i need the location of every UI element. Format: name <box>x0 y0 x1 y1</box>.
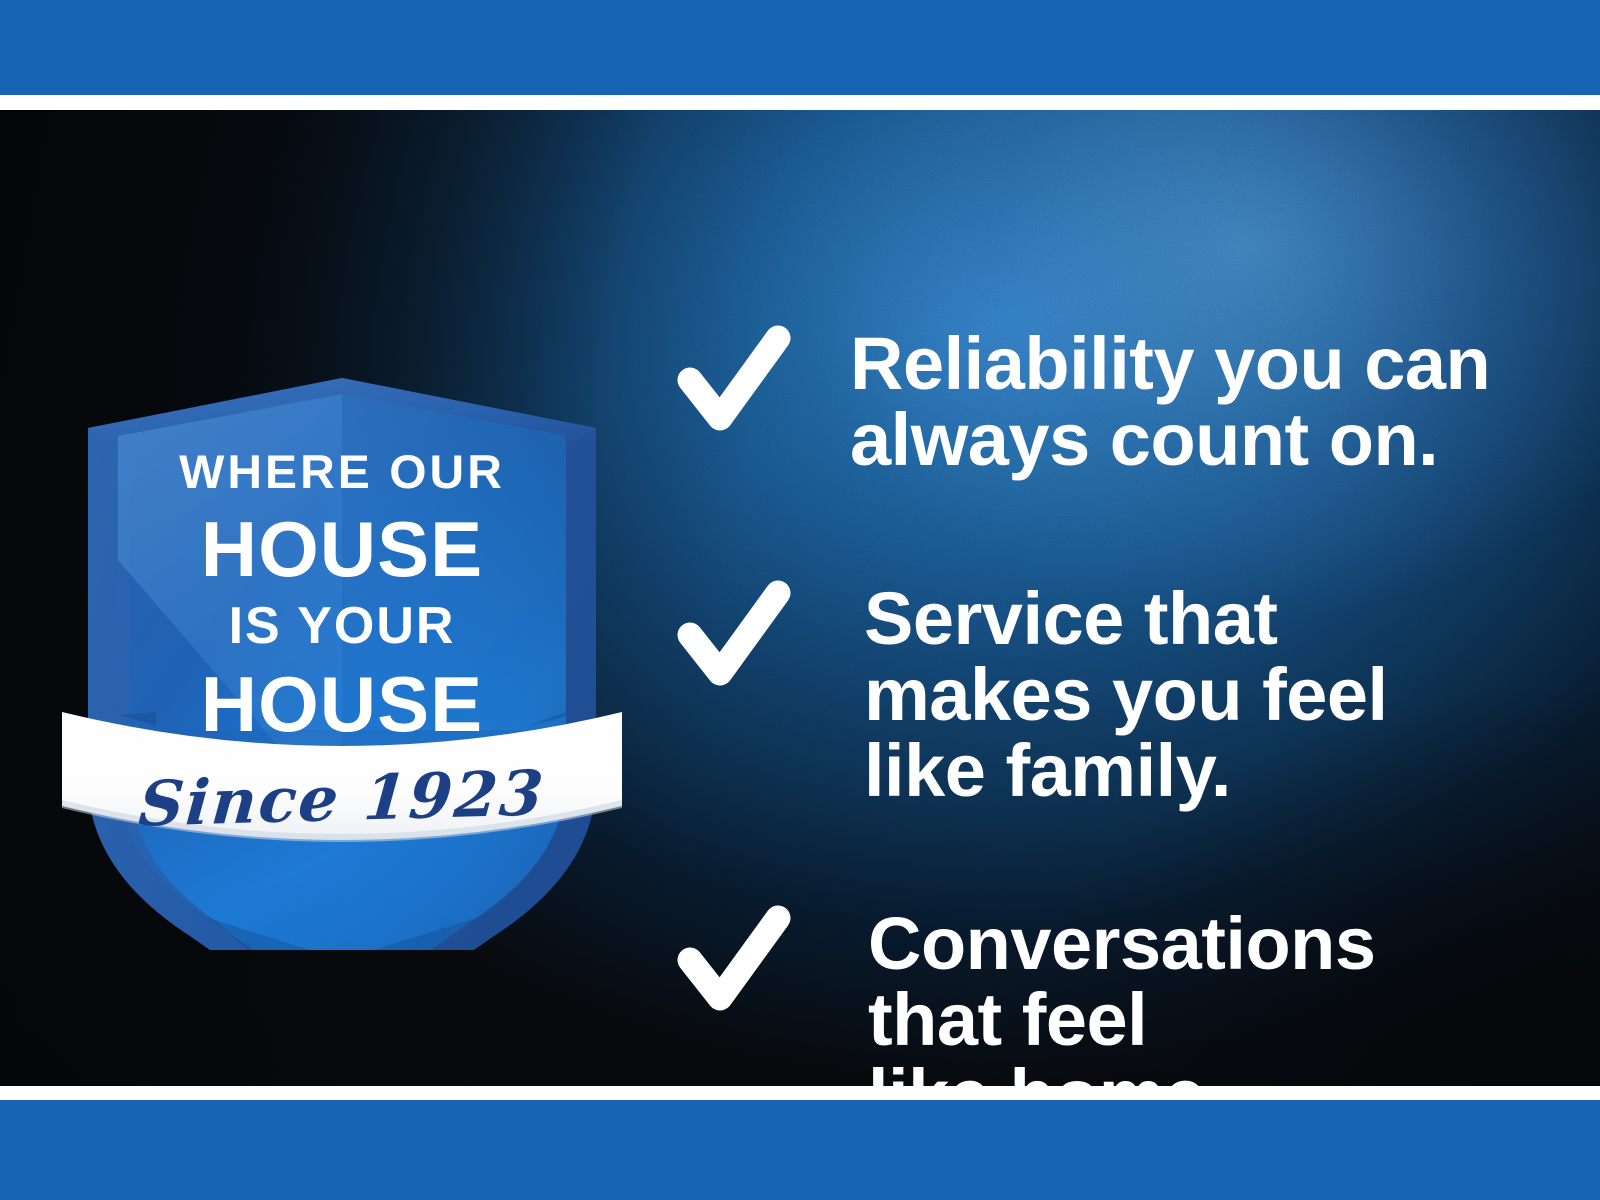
top-brand-bar <box>0 0 1600 95</box>
list-item-label: Conversations that feel like home. <box>868 900 1376 1086</box>
check-icon <box>660 900 792 1018</box>
check-icon <box>660 320 792 438</box>
badge-line-4: House <box>52 665 632 743</box>
benefits-list: Reliability you can always count on. Ser… <box>660 220 1540 1086</box>
badge-line-2: House <box>52 510 632 588</box>
promo-graphic: Where Our House Is Your House Since 1923… <box>0 0 1600 1200</box>
list-item: Service that makes you feel like family. <box>660 575 1540 810</box>
badge-line-1: Where Our <box>46 448 638 495</box>
bottom-brand-bar <box>0 1100 1600 1200</box>
list-item: Reliability you can always count on. <box>660 320 1540 478</box>
top-white-divider <box>0 95 1600 110</box>
badge-line-3: Is Your <box>52 600 632 652</box>
list-item-label: Reliability you can always count on. <box>850 320 1490 478</box>
check-icon <box>660 575 792 693</box>
list-item-label: Service that makes you feel like family. <box>864 575 1388 810</box>
bottom-white-divider <box>0 1086 1600 1100</box>
list-item: Conversations that feel like home. <box>660 900 1540 1086</box>
shield-badge: Where Our House Is Your House Since 1923 <box>52 260 632 950</box>
main-stage: Where Our House Is Your House Since 1923… <box>0 110 1600 1086</box>
